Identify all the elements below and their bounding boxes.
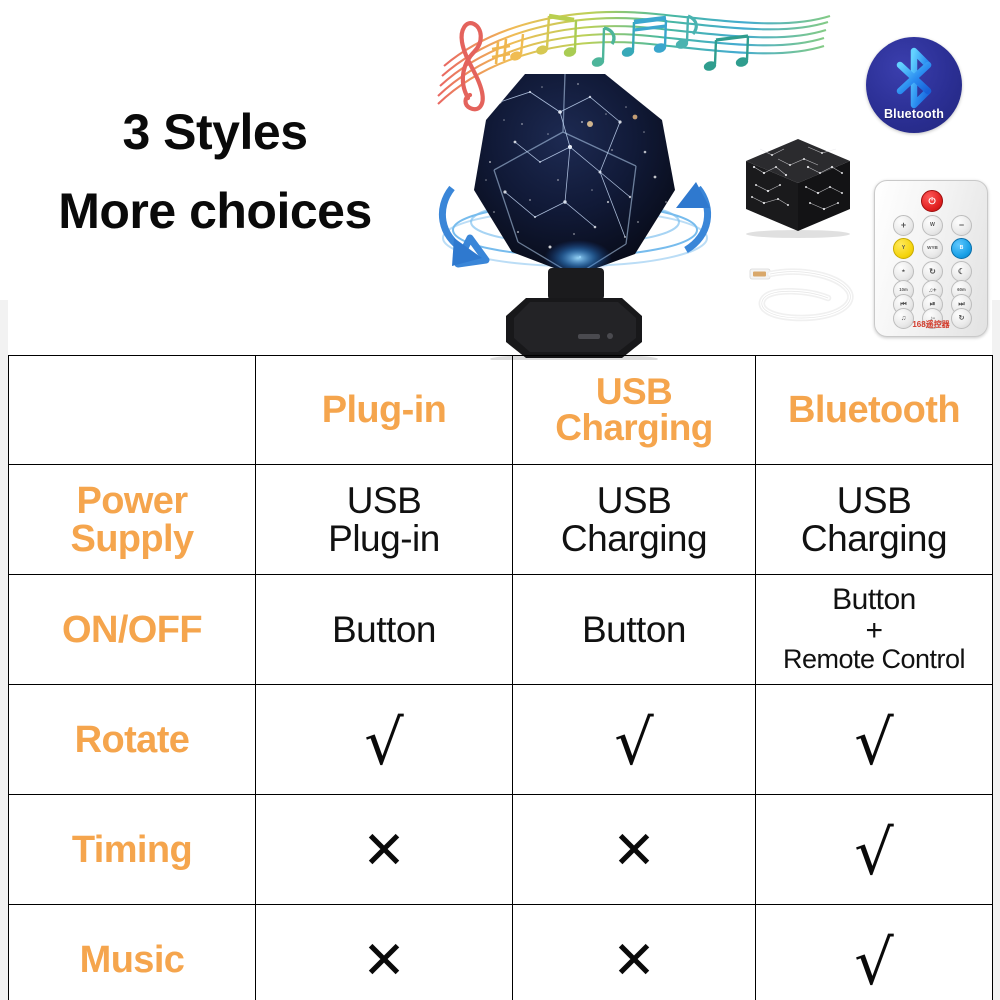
cell-rotate-bluetooth: √: [756, 685, 993, 795]
cell-power-supply-usb-line2: Charging: [517, 520, 751, 558]
bluetooth-icon: [888, 47, 940, 109]
header-usb-charging-line1: USB: [517, 374, 751, 410]
cell-power-supply-plugin-line2: Plug-in: [260, 520, 508, 558]
cross-icon: ✕: [612, 941, 656, 983]
table-row-on-off: ON/OFF Button Button Button + Remote Con…: [9, 575, 993, 685]
cell-on-off-plugin: Button: [256, 575, 513, 685]
header-bluetooth-label: Bluetooth: [760, 391, 988, 430]
remote-blue-button: B: [951, 238, 972, 259]
header-cell-usb-charging: USB Charging: [513, 356, 756, 465]
headline-line-2: More choices: [0, 186, 430, 236]
table-row-rotate: Rotate √ √ √: [9, 685, 993, 795]
cross-icon: ✕: [362, 941, 406, 983]
cell-on-off-bt-line2: +: [760, 616, 988, 647]
check-icon: √: [364, 718, 404, 768]
cell-on-off-bt-line1: Button: [760, 585, 988, 616]
header-plugin-label: Plug-in: [260, 391, 508, 430]
header-usb-charging-line2: Charging: [517, 410, 751, 446]
cross-icon: ✕: [612, 831, 656, 873]
cell-power-supply-usb-charging: USB Charging: [513, 465, 756, 575]
table-row-music: Music ✕ ✕ √: [9, 905, 993, 1000]
cell-timing-plugin: ✕: [256, 795, 513, 905]
cell-on-off-plugin-text: Button: [260, 611, 508, 649]
cell-power-supply-bt-line2: Charging: [760, 520, 988, 558]
cell-power-supply-bluetooth: USB Charging: [756, 465, 993, 575]
cell-music-plugin: ✕: [256, 905, 513, 1000]
star-projector-lamp-image: [430, 62, 720, 360]
check-icon: √: [614, 718, 654, 768]
remote-wyb-button: WYB: [922, 238, 943, 259]
remote-brightness-up-button: +: [893, 215, 914, 236]
row-label-power-supply-line1: Power: [13, 482, 251, 520]
table-row-power-supply: Power Supply USB Plug-in USB Charging US…: [9, 465, 993, 575]
cell-timing-usb-charging: ✕: [513, 795, 756, 905]
cell-timing-bluetooth: √: [756, 795, 993, 905]
cell-on-off-bt-line3: Remote Control: [760, 646, 988, 674]
bluetooth-badge: Bluetooth: [866, 37, 962, 133]
row-label-power-supply-line2: Supply: [13, 520, 251, 558]
remote-brightness-down-button: −: [951, 215, 972, 236]
remote-moon-button: ☾: [951, 261, 972, 282]
remote-control-image: ⏻ + W − Y WYB B ★ ↻ ☾ 10m ♫+ 60m ⏮ ⏯ ⏭ ♫…: [874, 180, 988, 337]
check-icon: √: [854, 828, 894, 878]
cell-power-supply-bt-line1: USB: [760, 482, 988, 520]
header-cell-bluetooth: Bluetooth: [756, 356, 993, 465]
remote-white-button: W: [922, 215, 943, 236]
check-icon: √: [854, 938, 894, 988]
remote-model-label: 168遥控器: [875, 319, 987, 330]
row-label-on-off: ON/OFF: [9, 575, 256, 685]
row-label-power-supply: Power Supply: [9, 465, 256, 575]
check-icon: √: [854, 718, 894, 768]
cell-music-bluetooth: √: [756, 905, 993, 1000]
header-cell-plugin: Plug-in: [256, 356, 513, 465]
header-cell-empty: [9, 356, 256, 465]
remote-mode-button: ★: [893, 261, 914, 282]
row-label-rotate-text: Rotate: [13, 721, 251, 759]
remote-rotate-button: ↻: [922, 261, 943, 282]
cell-rotate-usb-charging: √: [513, 685, 756, 795]
cell-on-off-usb-text: Button: [517, 611, 751, 649]
headline-line-1: 3 Styles: [0, 107, 430, 157]
bluetooth-badge-label: Bluetooth: [866, 107, 962, 121]
comparison-table: Plug-in USB Charging Bluetooth Power Sup…: [8, 355, 993, 1000]
table-header-row: Plug-in USB Charging Bluetooth: [9, 356, 993, 465]
table-row-timing: Timing ✕ ✕ √: [9, 795, 993, 905]
row-label-on-off-text: ON/OFF: [13, 611, 251, 649]
cell-rotate-plugin: √: [256, 685, 513, 795]
remote-yellow-button: Y: [893, 238, 914, 259]
row-label-timing: Timing: [9, 795, 256, 905]
usb-cable-image: [744, 248, 864, 328]
cell-power-supply-usb-line1: USB: [517, 482, 751, 520]
cell-power-supply-plugin: USB Plug-in: [256, 465, 513, 575]
cell-on-off-bluetooth: Button + Remote Control: [756, 575, 993, 685]
cross-icon: ✕: [362, 831, 406, 873]
cell-on-off-usb-charging: Button: [513, 575, 756, 685]
constellation-gift-box-image: [738, 133, 858, 238]
row-label-music-text: Music: [13, 941, 251, 979]
remote-power-button: ⏻: [921, 190, 943, 212]
row-label-timing-text: Timing: [13, 831, 251, 869]
cell-power-supply-plugin-line1: USB: [260, 482, 508, 520]
row-label-music: Music: [9, 905, 256, 1000]
product-comparison-infographic: 3 Styles More choices: [0, 0, 1000, 1000]
cell-music-usb-charging: ✕: [513, 905, 756, 1000]
row-label-rotate: Rotate: [9, 685, 256, 795]
